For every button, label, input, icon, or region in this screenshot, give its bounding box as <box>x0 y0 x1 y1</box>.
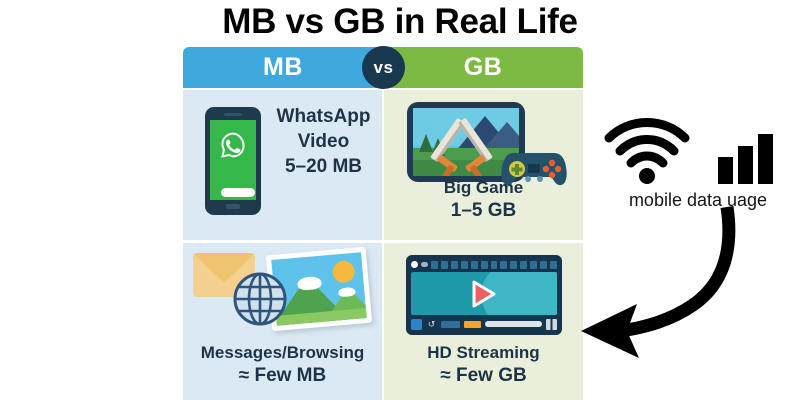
cell-big-game-caption: Big Game 1–5 GB <box>384 178 583 222</box>
video-tick <box>471 261 478 269</box>
phone-home-button <box>226 204 240 209</box>
cell-messages-browsing: Messages/Browsing ≈ Few MB <box>183 243 382 400</box>
globe-icon <box>232 271 288 327</box>
cell-whatsapp-caption: WhatsApp Video 5–20 MB <box>271 104 376 179</box>
video-progress-segment-blue[interactable] <box>441 321 460 328</box>
phone-screen <box>210 120 256 200</box>
caption-line-1: Big Game <box>384 178 583 199</box>
video-tick <box>530 261 537 269</box>
smartphone-icon <box>205 107 261 215</box>
infographic-canvas: MB vs GB in Real Life MB GB vs <box>0 0 800 400</box>
curved-arrow-left-icon <box>575 205 800 365</box>
video-pill <box>421 262 428 267</box>
cell-whatsapp-video: WhatsApp Video 5–20 MB <box>183 90 382 240</box>
caption-line-1: WhatsApp <box>271 104 376 129</box>
video-progress-segment-orange[interactable] <box>464 321 481 328</box>
video-tick <box>431 261 438 269</box>
video-tick <box>500 261 507 269</box>
video-tick <box>491 261 498 269</box>
signal-bar-3 <box>758 134 773 184</box>
caption-line-2: ≈ Few GB <box>384 364 583 387</box>
signal-bar-2 <box>738 146 753 184</box>
caption-line-1: HD Streaming <box>384 343 583 364</box>
video-tick <box>550 261 557 269</box>
phone-message-bar <box>221 188 255 197</box>
comparison-table: MB GB vs <box>183 47 583 400</box>
caption-line-1: Messages/Browsing <box>183 343 382 364</box>
cell-messages-caption: Messages/Browsing ≈ Few MB <box>183 343 382 387</box>
video-tick <box>461 261 468 269</box>
video-tick <box>540 261 547 269</box>
cell-hd-streaming: ↺ HD Streaming ≈ Few GB <box>384 243 583 400</box>
page-title: MB vs GB in Real Life <box>0 2 800 42</box>
header-gb-column: GB <box>383 47 583 88</box>
play-button-icon[interactable] <box>467 278 499 310</box>
video-tick <box>520 261 527 269</box>
video-player-icon: ↺ <box>406 255 562 335</box>
caption-line-2: 1–5 GB <box>384 199 583 222</box>
phone-earpiece <box>224 113 242 116</box>
video-screen <box>411 272 557 315</box>
caption-line-2: Video <box>271 129 376 154</box>
header-gb-label: GB <box>464 53 503 82</box>
vs-label: vs <box>374 58 394 78</box>
video-tick <box>441 261 448 269</box>
video-dot <box>411 261 418 268</box>
caption-line-3: 5–20 MB <box>271 154 376 179</box>
video-controls[interactable]: ↺ <box>411 318 557 330</box>
video-tick <box>510 261 517 269</box>
vs-badge: vs <box>362 46 405 89</box>
cell-big-game: Big Game 1–5 GB <box>384 90 583 240</box>
caption-line-2: ≈ Few MB <box>183 364 382 387</box>
video-titlebar <box>411 259 557 270</box>
video-pause-icon[interactable] <box>546 319 557 330</box>
signal-bars-icon <box>718 134 774 184</box>
video-capture-icon[interactable] <box>411 319 422 330</box>
table-header: MB GB vs <box>183 47 583 88</box>
wifi-icon <box>604 118 690 184</box>
cell-hd-streaming-caption: HD Streaming ≈ Few GB <box>384 343 583 387</box>
signal-bar-1 <box>718 157 733 184</box>
video-progress-track[interactable] <box>485 321 542 327</box>
video-tick <box>451 261 458 269</box>
video-loop-icon[interactable]: ↺ <box>426 319 437 330</box>
video-tick <box>481 261 488 269</box>
header-mb-label: MB <box>263 53 303 82</box>
header-mb-column: MB <box>183 47 383 88</box>
whatsapp-icon <box>220 132 246 158</box>
